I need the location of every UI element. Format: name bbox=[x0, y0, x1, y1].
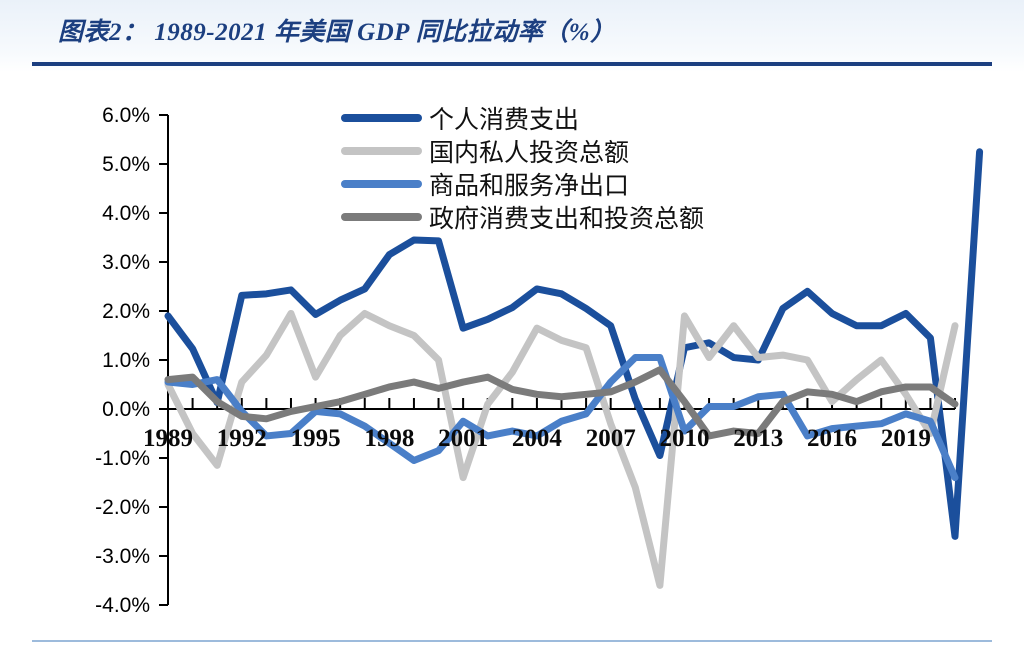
figure-header: 图表2： 1989-2021 年美国 GDP 同比拉动率（%） bbox=[0, 0, 1024, 68]
y-axis-tick-label: 6.0% bbox=[102, 104, 150, 127]
y-axis-tick-label: 3.0% bbox=[102, 251, 150, 274]
chart-legend: 个人消费支出国内私人投资总额商品和服务净出口政府消费支出和投资总额 bbox=[345, 106, 704, 233]
footer-divider bbox=[32, 640, 992, 642]
legend-label-investment: 国内私人投资总额 bbox=[429, 139, 629, 167]
y-axis-tick-label: -2.0% bbox=[95, 496, 150, 519]
x-axis-labels: 1989199219951998200120042007201020132016… bbox=[143, 425, 931, 452]
y-axis-tick-label: -1.0% bbox=[95, 447, 150, 470]
x-axis-tick-label: 2007 bbox=[586, 425, 636, 452]
x-axis-tick-label: 1998 bbox=[364, 425, 414, 452]
chart-figure: 图表2： 1989-2021 年美国 GDP 同比拉动率（%） 6.0%5.0%… bbox=[0, 0, 1024, 652]
y-axis-tick-label: 2.0% bbox=[102, 300, 150, 323]
x-axis-tick-label: 1992 bbox=[217, 425, 267, 452]
y-axis: 6.0%5.0%4.0%3.0%2.0%1.0%0.0%-1.0%-2.0%-3… bbox=[95, 104, 168, 617]
x-axis-tick-label: 2013 bbox=[733, 425, 783, 452]
y-axis-tick-label: -3.0% bbox=[95, 545, 150, 568]
y-axis-tick-label: 5.0% bbox=[102, 153, 150, 176]
y-axis-tick-label: -4.0% bbox=[95, 594, 150, 617]
plot-area: 6.0%5.0%4.0%3.0%2.0%1.0%0.0%-1.0%-2.0%-3… bbox=[0, 70, 1024, 630]
y-axis-tick-label: 0.0% bbox=[102, 398, 150, 421]
x-axis-tick-label: 2010 bbox=[659, 425, 709, 452]
x-axis-tick-label: 1995 bbox=[291, 425, 341, 452]
legend-label-netexports: 商品和服务净出口 bbox=[429, 172, 629, 200]
page-title: 图表2： 1989-2021 年美国 GDP 同比拉动率（%） bbox=[58, 12, 616, 48]
x-axis-tick-label: 1989 bbox=[143, 425, 193, 452]
x-axis-tick-label: 2019 bbox=[881, 425, 931, 452]
title-divider bbox=[32, 62, 992, 66]
x-axis-tick-label: 2001 bbox=[438, 425, 488, 452]
legend-label-government: 政府消费支出和投资总额 bbox=[429, 205, 704, 233]
y-axis-tick-label: 4.0% bbox=[102, 202, 150, 225]
legend-label-pce: 个人消费支出 bbox=[429, 106, 579, 134]
x-axis-tick-label: 2004 bbox=[512, 425, 563, 452]
series-line-商品和服务净出口 bbox=[168, 358, 955, 478]
gdp-contribution-line-chart: 6.0%5.0%4.0%3.0%2.0%1.0%0.0%-1.0%-2.0%-3… bbox=[0, 70, 1024, 630]
y-axis-tick-label: 1.0% bbox=[102, 349, 150, 372]
x-axis-tick-label: 2016 bbox=[807, 425, 857, 452]
